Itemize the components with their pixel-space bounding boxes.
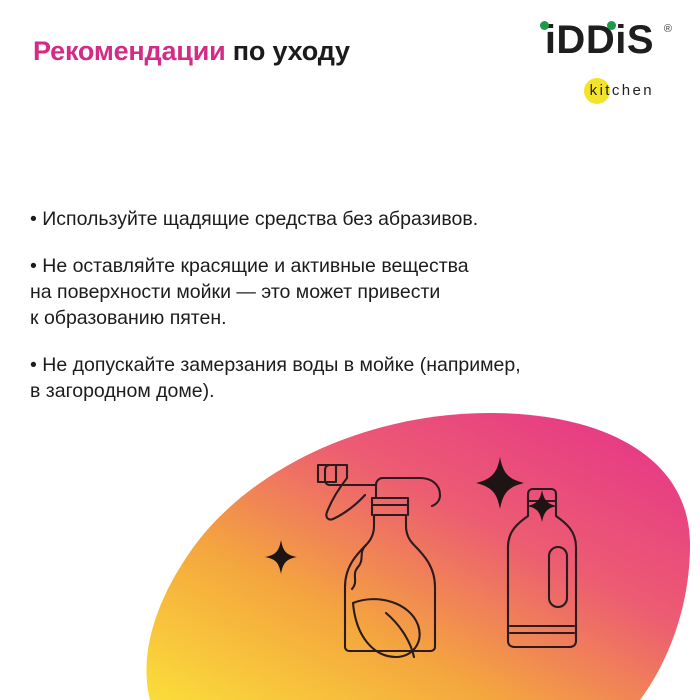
care-item-no-dyes: • Не оставляйте красящие и активные веще… [30,253,660,331]
card-header: Рекомендации по уходу iDDiS ® kitchen [0,0,700,120]
care-instructions-list: • Используйте щадящие средства без абраз… [30,186,660,425]
iddis-kitchen-logo: iDDiS ® kitchen [518,20,678,106]
product-line-art [0,395,700,700]
care-instructions-card: Рекомендации по уходу iDDiS ® kitchen • … [0,0,700,700]
sparkle-large-icon [476,457,524,509]
page-title-plain: по уходу [226,36,350,66]
cleaning-products-illustration [0,395,700,700]
sparkle-medium-icon [527,490,557,522]
page-title-accent: Рекомендации [33,36,226,66]
sparkle-small-icon [265,540,297,574]
logo-sub-label: kitchen [546,77,654,105]
logo-sub-label-wrap: kitchen [546,77,654,105]
logo-green-dot-first-i-icon [540,21,549,30]
spray-bottle-icon [318,465,440,657]
logo-green-dot-second-i-icon [607,21,616,30]
page-title: Рекомендации по уходу [33,36,350,67]
logo-wordmark: iDDiS [545,20,654,60]
registered-trademark-icon: ® [664,24,672,35]
care-item-mild-cleaners: • Используйте щадящие средства без абраз… [30,206,660,232]
